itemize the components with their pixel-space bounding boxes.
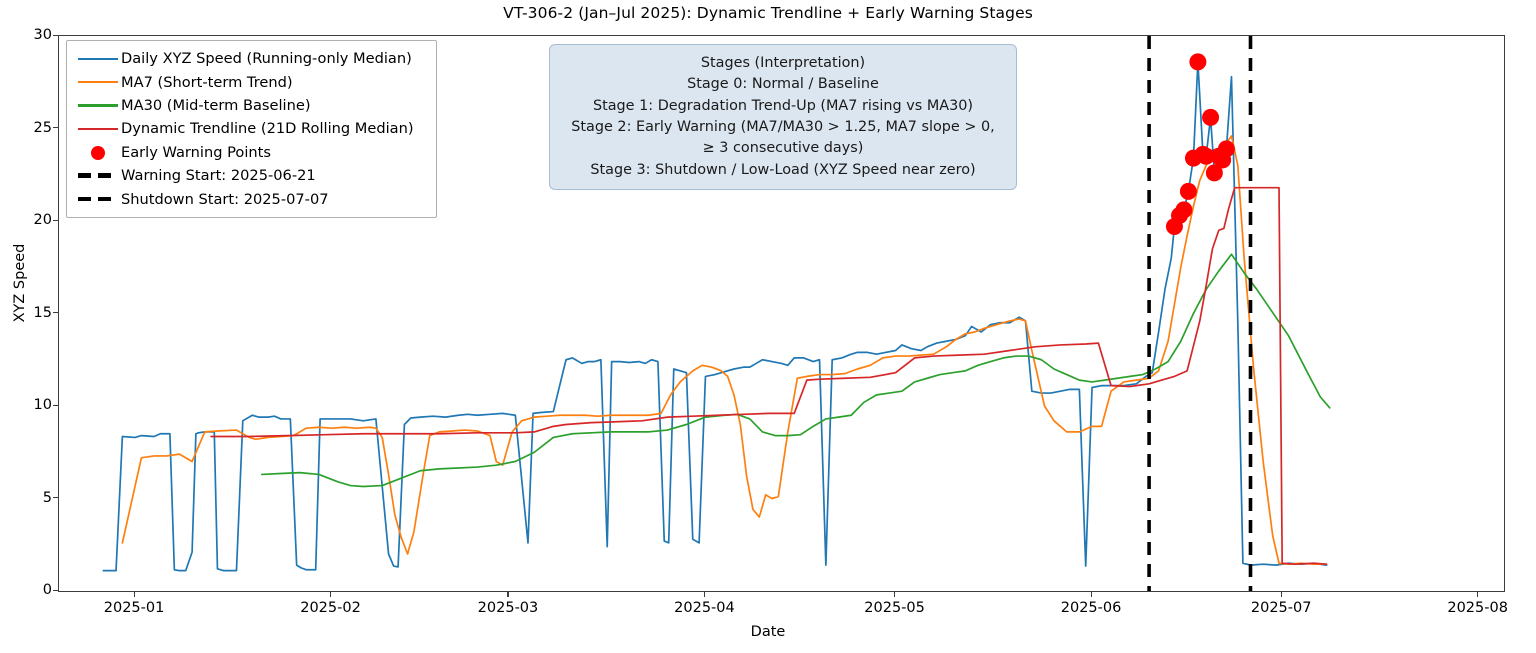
- x-tick-label: 2025-02: [266, 600, 396, 616]
- legend-dash-swatch: [75, 166, 121, 186]
- warning-point: [1180, 183, 1197, 200]
- y-tick-label: 15: [8, 305, 52, 321]
- y-tick-label: 20: [8, 212, 52, 228]
- chart-figure: VT-306-2 (Jan–Jul 2025): Dynamic Trendli…: [0, 0, 1536, 653]
- legend-item[interactable]: Shutdown Start: 2025-07-07: [75, 187, 428, 210]
- legend-label: Daily XYZ Speed (Running-only Median): [121, 50, 412, 67]
- line-swatch-icon: [78, 128, 118, 130]
- y-tick-label: 25: [8, 120, 52, 136]
- dashed-line-icon: [78, 173, 118, 178]
- y-tick-mark: [53, 35, 58, 36]
- warning-point: [1202, 109, 1219, 126]
- warning-point: [1218, 140, 1235, 157]
- legend-line-swatch: [75, 72, 121, 92]
- legend-label: MA7 (Short-term Trend): [121, 74, 293, 91]
- warning-point: [1175, 201, 1192, 218]
- y-tick-mark: [53, 127, 58, 128]
- x-tick-mark: [1281, 592, 1282, 597]
- y-tick-mark: [53, 220, 58, 221]
- legend-label: Early Warning Points: [121, 144, 271, 161]
- legend-dash-swatch: [75, 189, 121, 209]
- line-swatch-icon: [78, 81, 118, 83]
- y-tick-mark: [53, 590, 58, 591]
- legend-item[interactable]: Warning Start: 2025-06-21: [75, 164, 428, 187]
- stages-annotation-box: Stages (Interpretation)Stage 0: Normal /…: [549, 44, 1017, 190]
- warning-points-layer: [1166, 53, 1235, 235]
- x-tick-mark: [134, 592, 135, 597]
- x-tick-mark: [1091, 592, 1092, 597]
- legend-label: Shutdown Start: 2025-07-07: [121, 191, 329, 208]
- annotation-line: Stage 3: Shutdown / Low-Load (XYZ Speed …: [560, 160, 1006, 181]
- circle-marker-icon: [91, 146, 105, 160]
- event-lines-layer: [1149, 36, 1250, 591]
- y-tick-mark: [53, 312, 58, 313]
- legend-item[interactable]: MA7 (Short-term Trend): [75, 70, 428, 93]
- annotation-line: Stages (Interpretation): [560, 53, 1006, 74]
- x-tick-mark: [330, 592, 331, 597]
- x-tick-label: 2025-03: [443, 600, 573, 616]
- x-tick-mark: [894, 592, 895, 597]
- legend-label: MA30 (Mid-term Baseline): [121, 97, 311, 114]
- x-tick-label: 2025-05: [830, 600, 960, 616]
- legend-label: Dynamic Trendline (21D Rolling Median): [121, 120, 414, 137]
- warning-point: [1189, 53, 1206, 70]
- line-swatch-icon: [78, 58, 118, 60]
- legend-item[interactable]: MA30 (Mid-term Baseline): [75, 94, 428, 117]
- series-line-2: [262, 254, 1330, 486]
- y-tick-label: 5: [8, 490, 52, 506]
- annotation-line: Stage 0: Normal / Baseline: [560, 74, 1006, 95]
- series-line-3: [211, 188, 1326, 564]
- x-tick-label: 2025-01: [69, 600, 199, 616]
- x-tick-label: 2025-08: [1413, 600, 1536, 616]
- legend-item[interactable]: Daily XYZ Speed (Running-only Median): [75, 47, 428, 70]
- y-tick-label: 0: [8, 582, 52, 598]
- y-tick-label: 30: [8, 27, 52, 43]
- y-axis-label: XYZ Speed: [12, 133, 28, 433]
- chart-title: VT-306-2 (Jan–Jul 2025): Dynamic Trendli…: [0, 4, 1536, 22]
- y-tick-label: 10: [8, 397, 52, 413]
- dashed-line-icon: [78, 197, 118, 202]
- annotation-line: ≥ 3 consecutive days): [560, 138, 1006, 159]
- x-tick-label: 2025-06: [1026, 600, 1156, 616]
- x-tick-mark: [507, 592, 508, 597]
- chart-legend: Daily XYZ Speed (Running-only Median)MA7…: [66, 40, 437, 218]
- annotation-line: Stage 2: Early Warning (MA7/MA30 > 1.25,…: [560, 117, 1006, 138]
- x-axis-label: Date: [0, 624, 1536, 640]
- x-tick-mark: [1477, 592, 1478, 597]
- legend-item[interactable]: Dynamic Trendline (21D Rolling Median): [75, 117, 428, 140]
- legend-dot-swatch: [75, 142, 121, 162]
- legend-item[interactable]: Early Warning Points: [75, 141, 428, 164]
- x-tick-mark: [704, 592, 705, 597]
- legend-line-swatch: [75, 119, 121, 139]
- legend-line-swatch: [75, 49, 121, 69]
- legend-line-swatch: [75, 95, 121, 115]
- legend-label: Warning Start: 2025-06-21: [121, 167, 316, 184]
- line-swatch-icon: [78, 104, 118, 106]
- x-tick-label: 2025-04: [639, 600, 769, 616]
- y-tick-mark: [53, 405, 58, 406]
- x-tick-label: 2025-07: [1216, 600, 1346, 616]
- annotation-line: Stage 1: Degradation Trend-Up (MA7 risin…: [560, 96, 1006, 117]
- y-tick-mark: [53, 497, 58, 498]
